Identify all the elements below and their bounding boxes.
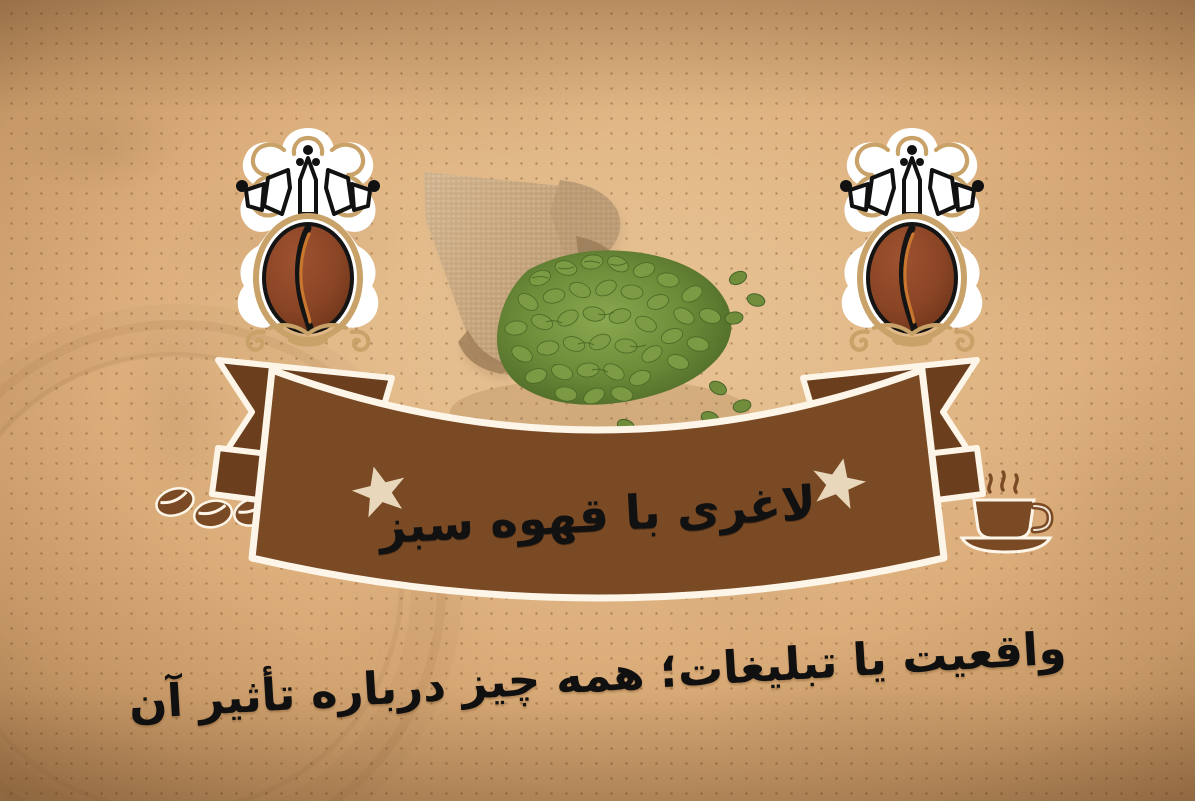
crown-coffee-bean-emblem-left bbox=[228, 122, 388, 362]
crown-coffee-bean-emblem-right bbox=[832, 122, 992, 362]
poster-canvas: لاغری با قهوه سبز واقعیت یا تبلیغات؛ همه… bbox=[0, 0, 1195, 801]
coffee-bean-icon bbox=[868, 224, 956, 332]
coffee-bean-icon bbox=[264, 224, 352, 332]
ribbon-banner bbox=[0, 352, 1195, 632]
